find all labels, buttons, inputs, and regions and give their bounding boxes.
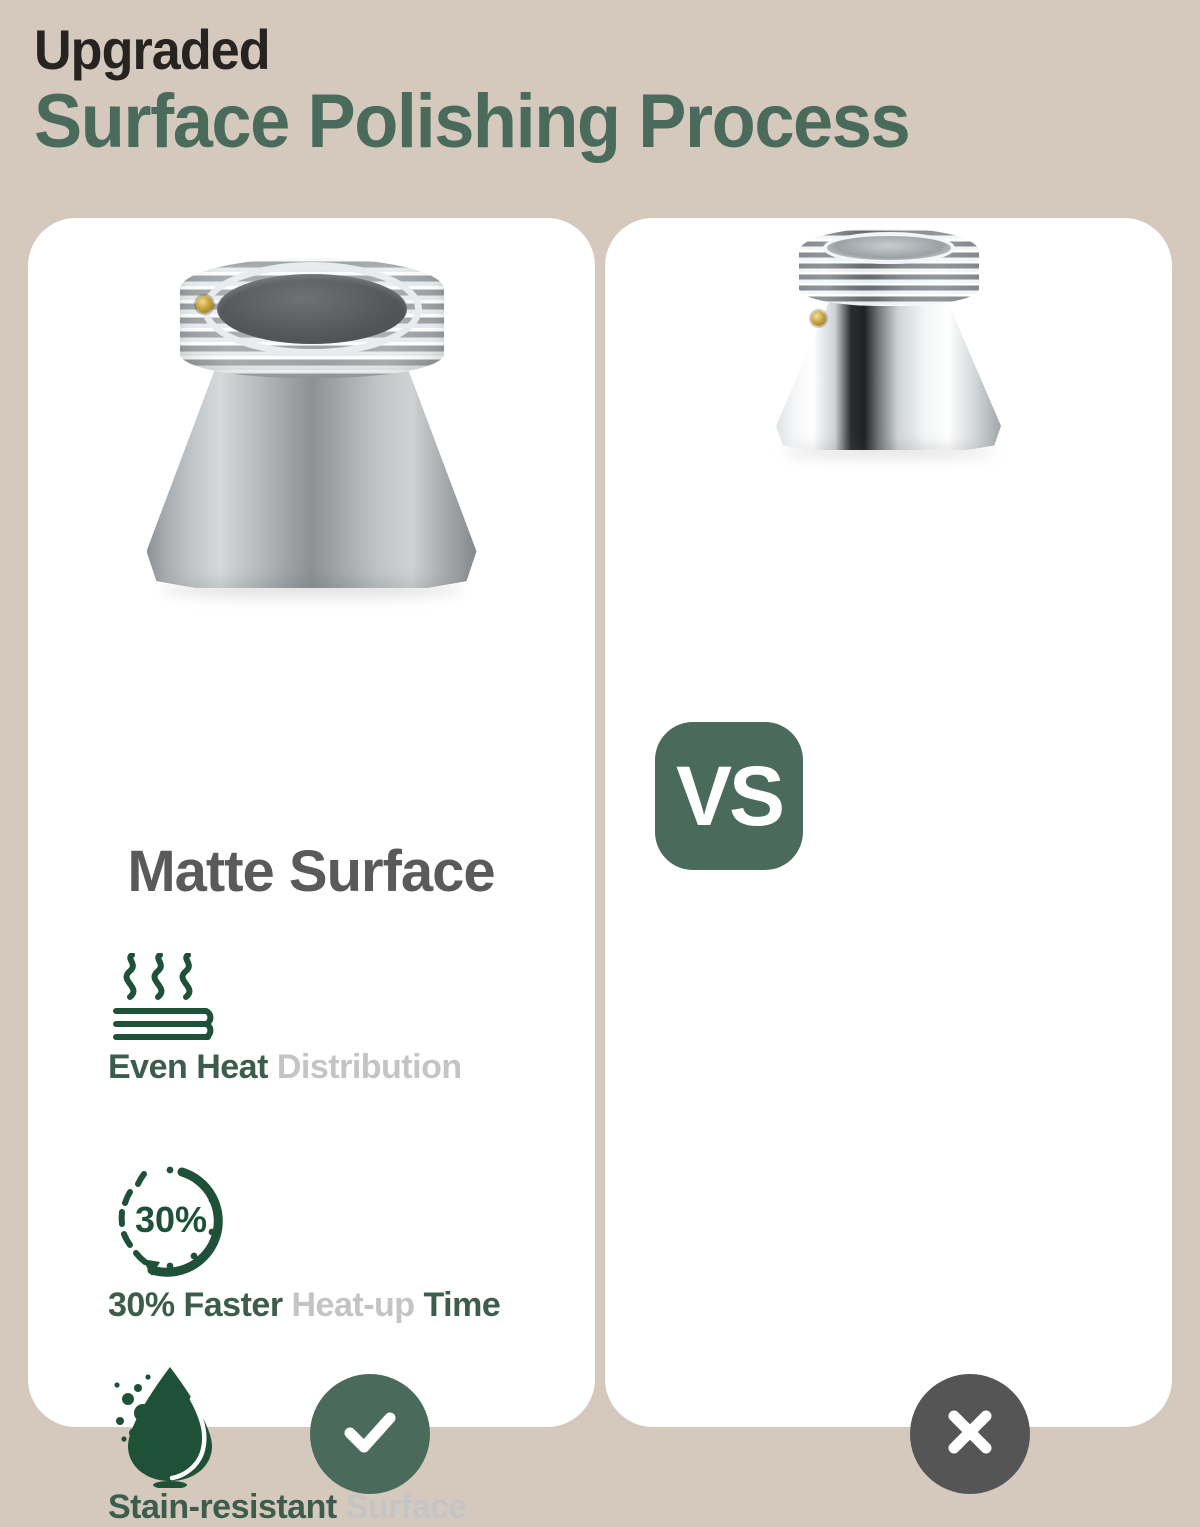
brass-valve-icon: [811, 311, 826, 326]
feature-even-heat-dim: Distribution: [277, 1048, 462, 1086]
verdict-badge-positive: [310, 1374, 430, 1494]
comparison-cards: Matte Surface: [28, 218, 1172, 1427]
clock-icon-text: 30%: [135, 1199, 207, 1240]
infographic-page: Upgraded Surface Polishing Process Matte…: [0, 0, 1200, 1500]
header-eyebrow: Upgraded: [34, 22, 1104, 78]
product-shadow: [784, 445, 994, 458]
verdict-badge-negative: [910, 1374, 1030, 1494]
cross-icon: [939, 1401, 1001, 1468]
heat-waves-icon: [108, 953, 462, 1048]
feature-faster-heatup: 30% 30% Faster Heat-up Time: [108, 1158, 500, 1325]
feature-faster-heatup-strong2: Time: [424, 1286, 501, 1324]
product-shadow: [162, 580, 462, 598]
feature-faster-heatup-label: 30% Faster Heat-up Time: [108, 1286, 500, 1325]
feature-faster-heatup-dim: Heat-up: [292, 1286, 415, 1324]
feature-faster-heatup-strong: 30% Faster: [108, 1286, 283, 1324]
pot-inner-plate-matte: [217, 274, 407, 344]
pot-opening-mirror: [823, 232, 955, 264]
header: Upgraded Surface Polishing Process: [34, 22, 1184, 162]
feature-even-heat-label: Even Heat Distribution: [108, 1048, 462, 1087]
feature-even-heat-strong: Even Heat: [108, 1048, 268, 1086]
feature-even-heat: Even Heat Distribution: [108, 953, 462, 1087]
pot-body-matte: [147, 358, 477, 588]
pot-body-mirror: [776, 300, 1001, 450]
vs-badge: VS: [655, 722, 803, 870]
clock-30-percent-icon: 30%: [108, 1158, 500, 1286]
feature-stain-resistant-label: Stain-resistant Surface: [108, 1488, 467, 1527]
feature-stain-resistant-strong: Stain-resistant: [108, 1488, 337, 1526]
matte-surface-title: Matte Surface: [56, 838, 566, 905]
card-matte-surface: Matte Surface: [28, 218, 595, 1427]
page-title: Surface Polishing Process: [34, 82, 1127, 162]
brass-valve-icon: [196, 296, 213, 313]
check-icon: [337, 1399, 403, 1470]
